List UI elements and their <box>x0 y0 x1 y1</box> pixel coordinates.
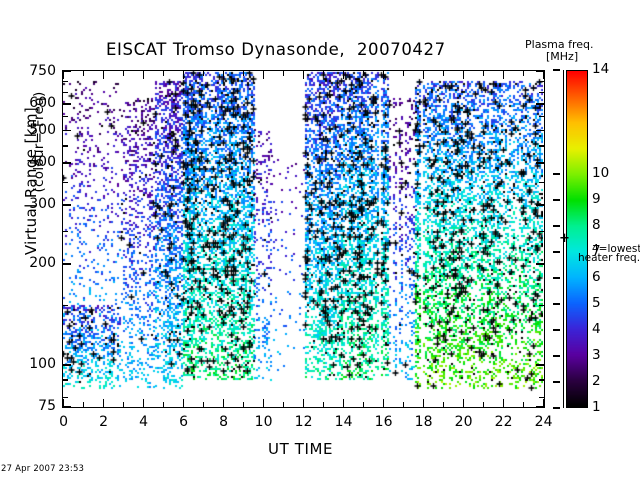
colorbar-tick <box>553 199 560 201</box>
y-tick-label: 300 <box>10 196 56 212</box>
x-tick-label: 6 <box>167 414 201 430</box>
footer-timestamp: 27 Apr 2007 23:53 <box>1 464 84 474</box>
colorbar-title-line2: [MHz] <box>546 50 578 63</box>
colorbar-tick-label: 8 <box>592 217 601 233</box>
ionogram-scatter-canvas <box>63 71 543 406</box>
colorbar-tick <box>553 251 560 253</box>
y-tick-label: 750 <box>10 63 56 79</box>
colorbar-tick-label: 4 <box>592 321 601 337</box>
colorbar-tick <box>553 329 560 331</box>
colorbar-tick-label: 9 <box>592 191 601 207</box>
colorbar-tick-label: 6 <box>592 269 601 285</box>
colorbar-tick <box>553 381 560 383</box>
colorbar-tick <box>553 69 560 71</box>
colorbar-tick-label: 1 <box>592 399 601 415</box>
colorbar-gradient <box>567 71 587 407</box>
y-tick-label: 100 <box>10 356 56 372</box>
x-tick-label: 0 <box>47 414 81 430</box>
colorbar-tick <box>553 303 560 305</box>
colorbar-tick-label: 14 <box>592 61 609 77</box>
x-tick-label: 2 <box>87 414 121 430</box>
colorbar-tick-label: 2 <box>592 373 601 389</box>
y-tick-label: 75 <box>10 398 56 414</box>
x-tick-label: 20 <box>447 414 481 430</box>
x-tick-label: 10 <box>247 414 281 430</box>
x-tick-label: 18 <box>407 414 441 430</box>
x-tick-label: 4 <box>127 414 161 430</box>
colorbar-tick <box>553 225 560 227</box>
y-tick-label: 500 <box>10 122 56 138</box>
heater-note-line2: heater freq. <box>578 252 640 264</box>
y-tick-label: 600 <box>10 95 56 111</box>
x-axis-label: UT TIME <box>268 440 333 458</box>
x-tick-label: 8 <box>207 414 241 430</box>
x-tick-label: 22 <box>487 414 521 430</box>
plot-area <box>62 70 545 408</box>
colorbar-tick <box>553 277 560 279</box>
colorbar-tick-label: 10 <box>592 165 609 181</box>
y-tick-label: 200 <box>10 255 56 271</box>
colorbar-tick <box>553 355 560 357</box>
x-tick-label: 24 <box>527 414 561 430</box>
x-tick-label: 16 <box>367 414 401 430</box>
heater-level-marker: + <box>559 231 570 246</box>
colorbar-tick-label: 5 <box>592 295 601 311</box>
colorbar-tick <box>553 173 560 175</box>
ionogram-plot-page: EISCAT Tromso Dynasonde, 20070427 Plasma… <box>0 0 640 480</box>
colorbar-tick-label: 3 <box>592 347 601 363</box>
x-tick-label: 12 <box>287 414 321 430</box>
x-tick-label: 14 <box>327 414 361 430</box>
y-tick-label: 400 <box>10 154 56 170</box>
colorbar-tick <box>553 407 560 409</box>
page-title: EISCAT Tromso Dynasonde, 20070427 <box>106 40 446 59</box>
